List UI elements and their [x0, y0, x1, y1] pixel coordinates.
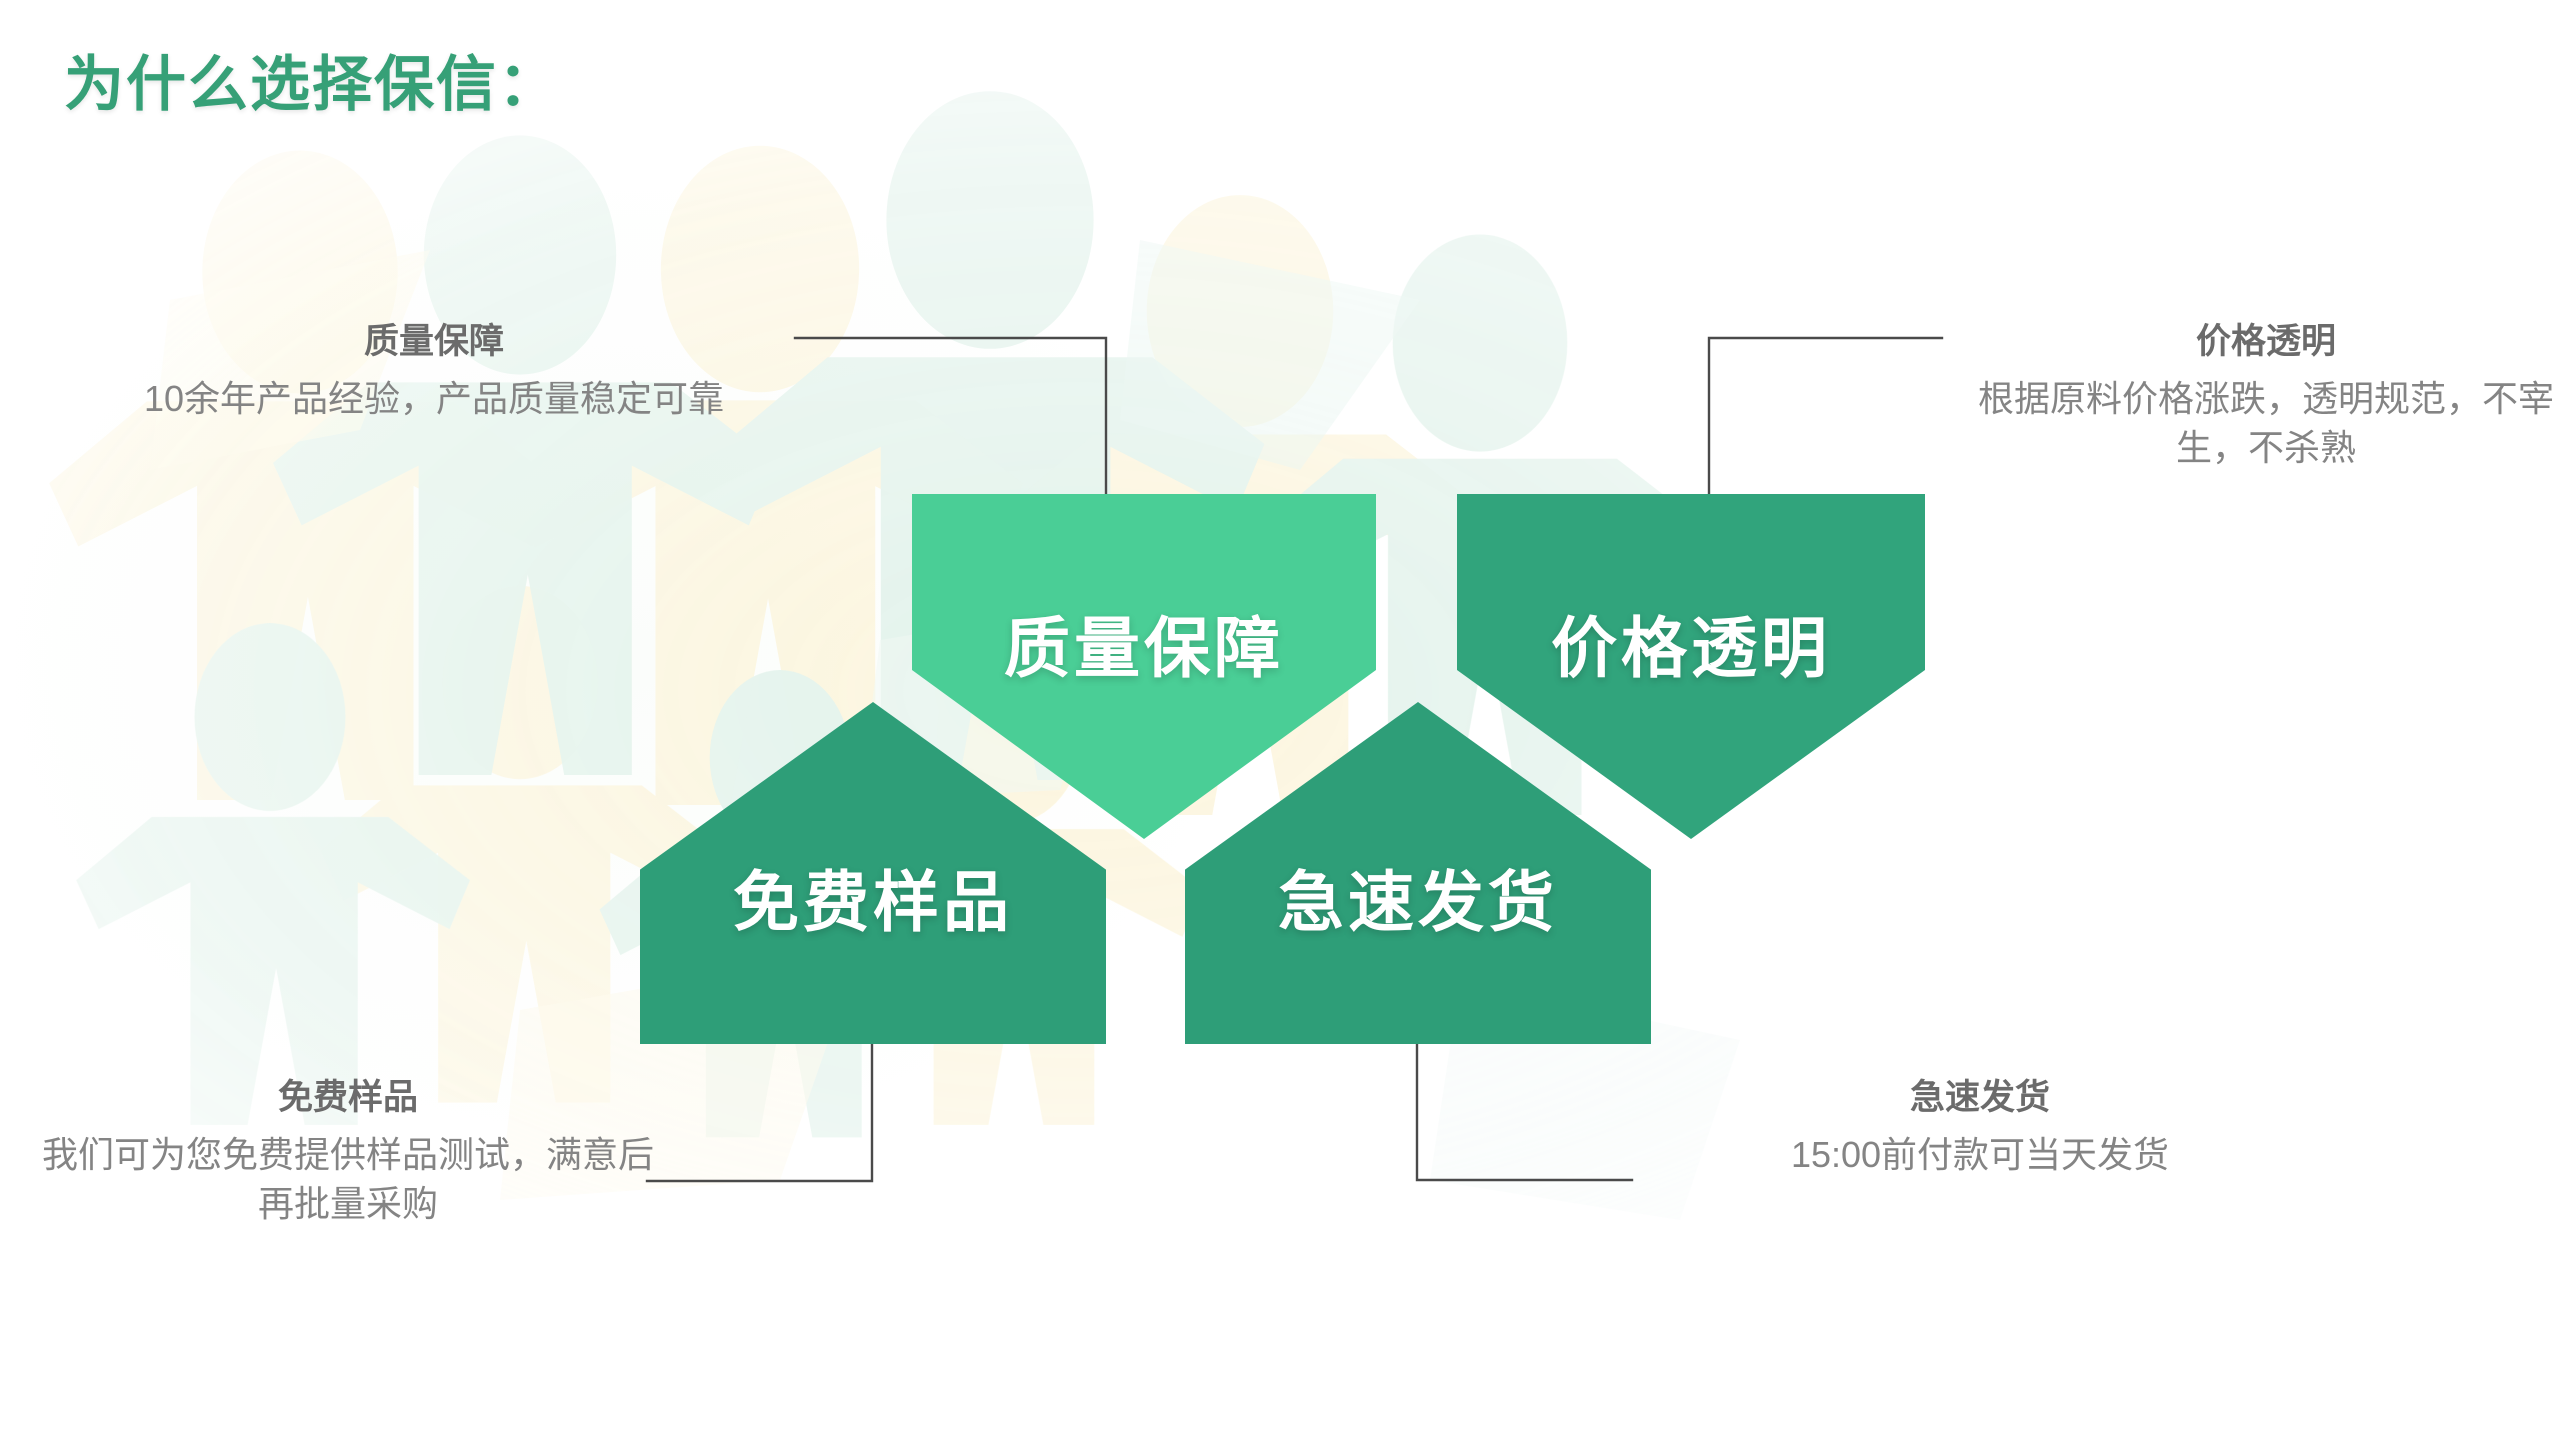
- note-sample: 免费样品 我们可为您免费提供样品测试，满意后再批量采购: [30, 1076, 666, 1229]
- note-quality: 质量保障 10余年产品经验，产品质量稳定可靠: [112, 320, 756, 423]
- note-quality-heading: 质量保障: [112, 320, 756, 364]
- note-price: 价格透明 根据原料价格涨跌，透明规范，不宰生，不杀熟: [1968, 320, 2560, 473]
- pentagon-ship-label: 急速发货: [1278, 849, 1558, 945]
- note-price-heading: 价格透明: [1968, 320, 2560, 364]
- connector-quality: [795, 338, 1106, 495]
- connector-sample: [647, 1044, 872, 1181]
- note-ship-heading: 急速发货: [1672, 1076, 2288, 1120]
- pentagon-quality-label: 质量保障: [1004, 595, 1284, 691]
- note-sample-heading: 免费样品: [30, 1076, 666, 1120]
- note-ship-body: 15:00前付款可当天发货: [1672, 1130, 2288, 1180]
- note-price-body: 根据原料价格涨跌，透明规范，不宰生，不杀熟: [1968, 374, 2560, 473]
- connector-price: [1709, 338, 1942, 495]
- note-sample-body: 我们可为您免费提供样品测试，满意后再批量采购: [30, 1130, 666, 1229]
- page-title: 为什么选择保信：: [64, 36, 560, 123]
- note-ship: 急速发货 15:00前付款可当天发货: [1672, 1076, 2288, 1179]
- connector-ship: [1417, 1044, 1632, 1180]
- note-quality-body: 10余年产品经验，产品质量稳定可靠: [112, 374, 756, 424]
- pentagon-sample-label: 免费样品: [733, 849, 1013, 945]
- pentagon-price-label: 价格透明: [1551, 595, 1831, 691]
